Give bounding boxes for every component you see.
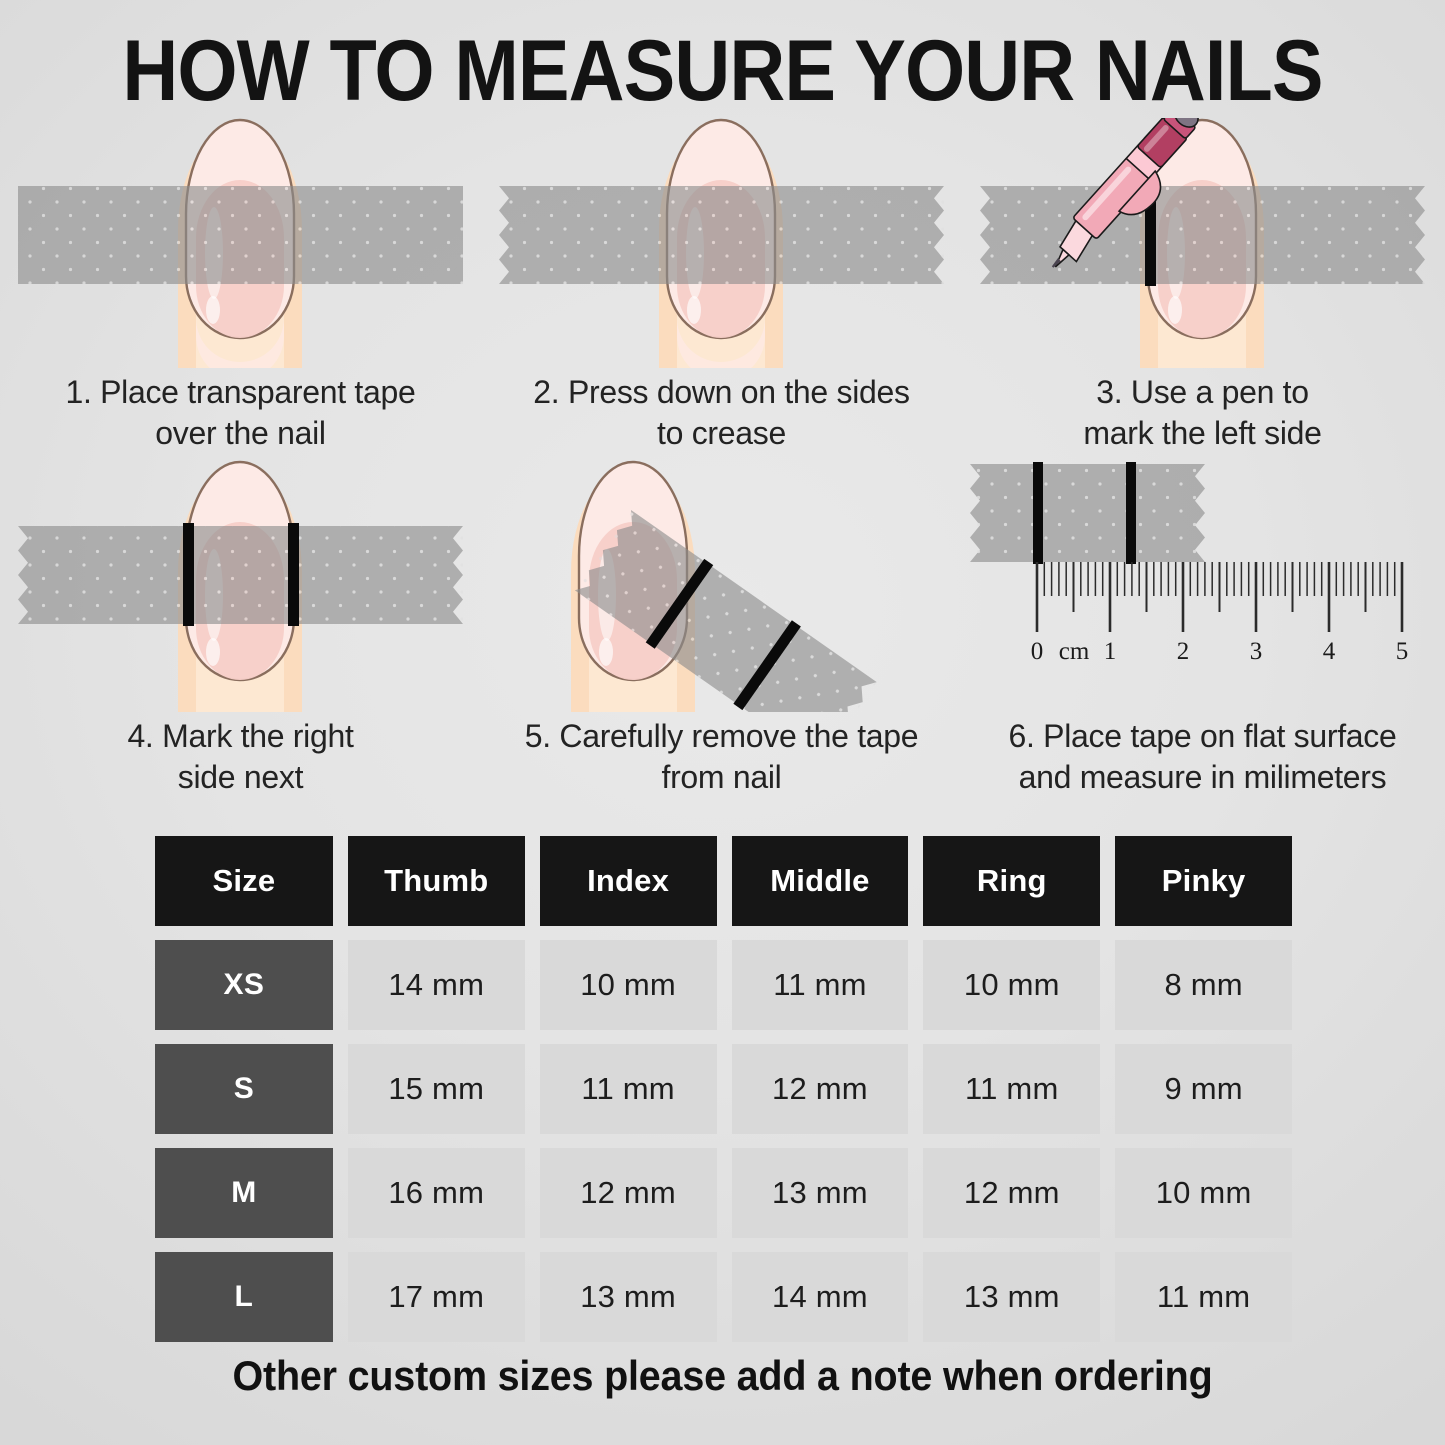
tape-strip [18, 526, 463, 624]
steps-row-bottom: 4. Mark the right side next [0, 454, 1445, 798]
step-5-caption-line2: from nail [661, 759, 781, 795]
ruler-labels: 0 cm 1 2 3 4 5 [1031, 638, 1409, 665]
cell-m-ring: 12 mm [923, 1148, 1100, 1238]
step-3-illustration [962, 118, 1443, 368]
cell-l-ring: 13 mm [923, 1252, 1100, 1342]
table-row: XS 14 mm 10 mm 11 mm 10 mm 8 mm [155, 940, 1292, 1030]
table-header-row: Size Thumb Index Middle Ring Pinky [155, 836, 1292, 926]
step-5-caption: 5. Carefully remove the tape from nail [487, 716, 957, 798]
step-4-caption-line1: 4. Mark the right [127, 718, 353, 754]
step-1-caption-line1: 1. Place transparent tape [65, 374, 415, 410]
step-4: 4. Mark the right side next [0, 454, 481, 798]
ruler-label-0: 0 [1031, 638, 1044, 665]
table-header-pinky: Pinky [1115, 836, 1292, 926]
step-1-caption: 1. Place transparent tape over the nail [6, 372, 476, 454]
ruler-label-4: 4 [1323, 638, 1336, 665]
cell-l-pinky: 11 mm [1115, 1252, 1292, 1342]
step-2-caption-line2: to crease [657, 415, 786, 451]
step-6-caption-line2: and measure in milimeters [1019, 759, 1387, 795]
step-3-caption-line2: mark the left side [1083, 415, 1321, 451]
table-header-size: Size [155, 836, 333, 926]
page-title: HOW TO MEASURE YOUR NAILS [72, 22, 1373, 121]
step-5-illustration [481, 454, 962, 712]
step-3: 3. Use a pen to mark the left side [962, 118, 1443, 454]
cell-m-index: 12 mm [540, 1148, 717, 1238]
step-4-caption-line2: side next [178, 759, 303, 795]
cell-s-middle: 12 mm [732, 1044, 909, 1134]
ruler-label-3: 3 [1250, 638, 1263, 665]
finger-with-tape-illustration [0, 118, 481, 368]
step-5: 5. Carefully remove the tape from nail [481, 454, 962, 798]
size-label-l: L [155, 1252, 333, 1342]
step-2-illustration [481, 118, 962, 368]
cell-s-ring: 11 mm [923, 1044, 1100, 1134]
step-6-caption-line1: 6. Place tape on flat surface [1009, 718, 1397, 754]
tape-strip [970, 464, 1205, 562]
table-header-ring: Ring [923, 836, 1100, 926]
table-header-thumb: Thumb [348, 836, 525, 926]
steps-row-top: 1. Place transparent tape over the nail [0, 118, 1445, 454]
ruler-label-cm: cm [1059, 638, 1090, 665]
finger-tape-peeled-illustration [481, 454, 962, 712]
step-6: 0 cm 1 2 3 4 5 6. Place tape on flat sur… [962, 454, 1443, 798]
table-header-middle: Middle [732, 836, 909, 926]
tape-on-ruler-illustration: 0 cm 1 2 3 4 5 [962, 454, 1443, 712]
cell-l-index: 13 mm [540, 1252, 717, 1342]
step-1-illustration [0, 118, 481, 368]
ruler-label-5: 5 [1396, 638, 1409, 665]
finger-two-marks-illustration [0, 454, 481, 712]
size-chart-table: Size Thumb Index Middle Ring Pinky XS 14… [155, 836, 1292, 1342]
left-mark [183, 523, 194, 626]
cell-s-thumb: 15 mm [348, 1044, 525, 1134]
step-2: 2. Press down on the sides to crease [481, 118, 962, 454]
table-row: L 17 mm 13 mm 14 mm 13 mm 11 mm [155, 1252, 1292, 1342]
step-6-illustration: 0 cm 1 2 3 4 5 [962, 454, 1443, 712]
step-3-caption: 3. Use a pen to mark the left side [968, 372, 1438, 454]
cell-m-middle: 13 mm [732, 1148, 909, 1238]
table-header-index: Index [540, 836, 717, 926]
cell-m-thumb: 16 mm [348, 1148, 525, 1238]
cell-xs-thumb: 14 mm [348, 940, 525, 1030]
finger-pressed-tape-illustration [481, 118, 962, 368]
steps-section: 1. Place transparent tape over the nail [0, 118, 1445, 798]
size-label-m: M [155, 1148, 333, 1238]
cell-l-thumb: 17 mm [348, 1252, 525, 1342]
step-1: 1. Place transparent tape over the nail [0, 118, 481, 454]
size-label-xs: XS [155, 940, 333, 1030]
cell-xs-middle: 11 mm [732, 940, 909, 1030]
cell-s-index: 11 mm [540, 1044, 717, 1134]
ruler-label-1: 1 [1104, 638, 1117, 665]
right-mark [288, 523, 299, 626]
step-4-illustration [0, 454, 481, 712]
cell-xs-ring: 10 mm [923, 940, 1100, 1030]
right-mark [1126, 462, 1136, 564]
cell-s-pinky: 9 mm [1115, 1044, 1292, 1134]
cell-xs-pinky: 8 mm [1115, 940, 1292, 1030]
step-3-caption-line1: 3. Use a pen to [1096, 374, 1309, 410]
left-mark [1033, 462, 1043, 564]
table-row: S 15 mm 11 mm 12 mm 11 mm 9 mm [155, 1044, 1292, 1134]
table-row: M 16 mm 12 mm 13 mm 12 mm 10 mm [155, 1148, 1292, 1238]
tape-strip [18, 186, 463, 284]
size-label-s: S [155, 1044, 333, 1134]
ruler-ticks [1037, 562, 1402, 632]
finger-tape-pen-illustration [962, 118, 1443, 368]
cell-l-middle: 14 mm [732, 1252, 909, 1342]
tape-strip [499, 186, 944, 284]
custom-size-note: Other custom sizes please add a note whe… [43, 1352, 1401, 1400]
step-2-caption: 2. Press down on the sides to crease [487, 372, 957, 454]
ruler-label-2: 2 [1177, 638, 1190, 665]
cell-xs-index: 10 mm [540, 940, 717, 1030]
step-2-caption-line1: 2. Press down on the sides [533, 374, 909, 410]
cell-m-pinky: 10 mm [1115, 1148, 1292, 1238]
step-1-caption-line2: over the nail [155, 415, 325, 451]
step-4-caption: 4. Mark the right side next [6, 716, 476, 798]
step-5-caption-line1: 5. Carefully remove the tape [525, 718, 919, 754]
tape-strip [980, 186, 1425, 284]
step-6-caption: 6. Place tape on flat surface and measur… [968, 716, 1438, 798]
